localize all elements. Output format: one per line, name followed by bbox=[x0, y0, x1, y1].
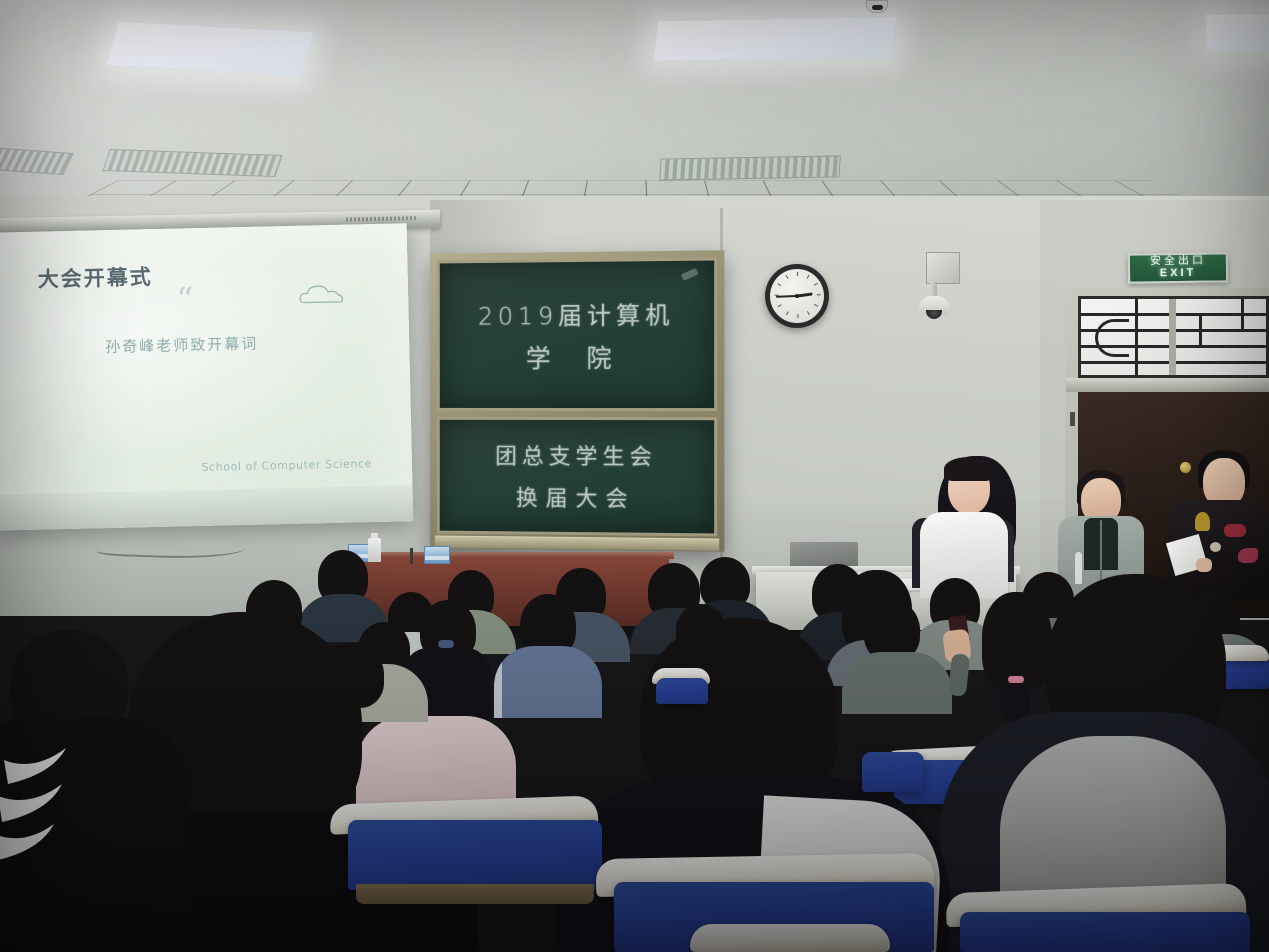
grille-bar bbox=[1199, 313, 1202, 345]
chalk-tray bbox=[435, 536, 719, 551]
pen bbox=[410, 548, 413, 564]
tissue-box-band bbox=[425, 556, 449, 560]
clock-tick bbox=[797, 314, 798, 318]
seat-back[interactable] bbox=[656, 678, 708, 704]
chalk-smudge bbox=[681, 268, 699, 281]
clock-tick bbox=[797, 272, 798, 276]
clock-center-pin bbox=[795, 294, 799, 298]
cloud-icon bbox=[299, 283, 345, 306]
seat-back[interactable] bbox=[348, 820, 602, 890]
blackboard-line-2: 学 院 bbox=[526, 338, 626, 374]
clock-tick bbox=[777, 304, 781, 307]
transom-window bbox=[1078, 296, 1269, 378]
slide-footer: School of Computer Science bbox=[201, 457, 372, 474]
wall-clock bbox=[765, 264, 829, 328]
student-shoulders bbox=[842, 652, 952, 714]
clock-tick bbox=[807, 311, 810, 315]
sweatshirt-graphic bbox=[1224, 524, 1246, 537]
hair-tie bbox=[1008, 676, 1024, 683]
slide-quote-mark: “ bbox=[176, 280, 194, 320]
door-knob[interactable] bbox=[1180, 462, 1191, 473]
blackboard-panel-top: 2019届计算机 学 院 bbox=[437, 257, 717, 411]
camera-junction-box bbox=[926, 252, 960, 284]
door-hinge bbox=[1070, 412, 1075, 426]
sweatshirt-graphic bbox=[1195, 512, 1210, 531]
clock-tick bbox=[817, 294, 821, 295]
lanyard bbox=[1075, 552, 1082, 584]
blackboard-line-4: 换届大会 bbox=[516, 481, 636, 514]
clock-tick bbox=[786, 311, 789, 315]
clock-tick bbox=[814, 283, 818, 286]
exit-sign-english: EXIT bbox=[1160, 267, 1197, 281]
blackboard-line-3: 团总支学生会 bbox=[495, 439, 657, 472]
desk-board bbox=[690, 924, 890, 952]
screen-housing-label bbox=[346, 216, 416, 221]
grille-hook-motif bbox=[1095, 319, 1129, 357]
sweatshirt-graphic bbox=[1210, 542, 1221, 552]
seat-back[interactable] bbox=[960, 912, 1250, 952]
striped-shirt bbox=[494, 646, 602, 718]
sweatshirt-graphic bbox=[1238, 548, 1258, 563]
seat-back[interactable] bbox=[862, 752, 924, 792]
clock-tick bbox=[786, 275, 789, 279]
blackboard: 2019届计算机 学 院 团总支学生会 换届大会 bbox=[430, 250, 724, 551]
clock-tick bbox=[807, 275, 810, 279]
student-head bbox=[322, 642, 384, 708]
classroom-photo-scene: 大会开幕式 “ 孙奇峰老师致开幕词 School of Computer Sci… bbox=[0, 0, 1269, 952]
clock-face bbox=[770, 269, 824, 323]
grey-hood bbox=[1000, 736, 1226, 906]
arm bbox=[948, 653, 970, 697]
clock-tick bbox=[777, 283, 781, 286]
hand bbox=[1196, 558, 1212, 572]
exit-sign-chinese: 安全出口 bbox=[1150, 255, 1206, 268]
hair-tie bbox=[438, 640, 454, 648]
grille-bar bbox=[1241, 299, 1244, 329]
water-bottle bbox=[368, 538, 381, 562]
exit-sign: 安全出口 EXIT bbox=[1128, 252, 1228, 283]
desk-underside bbox=[356, 884, 594, 904]
slide-subtitle: 孙奇峰老师致开幕词 bbox=[105, 333, 258, 357]
blackboard-panel-bottom: 团总支学生会 换届大会 bbox=[437, 417, 717, 537]
claw-graphic bbox=[0, 742, 114, 882]
grille-bar bbox=[1135, 299, 1138, 375]
clock-minute-hand bbox=[776, 295, 797, 298]
slide-title: 大会开幕式 bbox=[37, 261, 153, 294]
blackboard-line-1: 2019届计算机 bbox=[478, 295, 675, 331]
projection-screen: 大会开幕式 “ 孙奇峰老师致开幕词 School of Computer Sci… bbox=[0, 223, 413, 530]
tissue-box bbox=[424, 546, 450, 564]
door-lintel bbox=[1066, 378, 1269, 392]
clock-tick bbox=[814, 304, 818, 307]
student-head bbox=[864, 600, 920, 660]
clock-hour-hand bbox=[797, 292, 812, 297]
hair-fringe bbox=[944, 457, 994, 481]
transom-mullion bbox=[1169, 299, 1176, 375]
